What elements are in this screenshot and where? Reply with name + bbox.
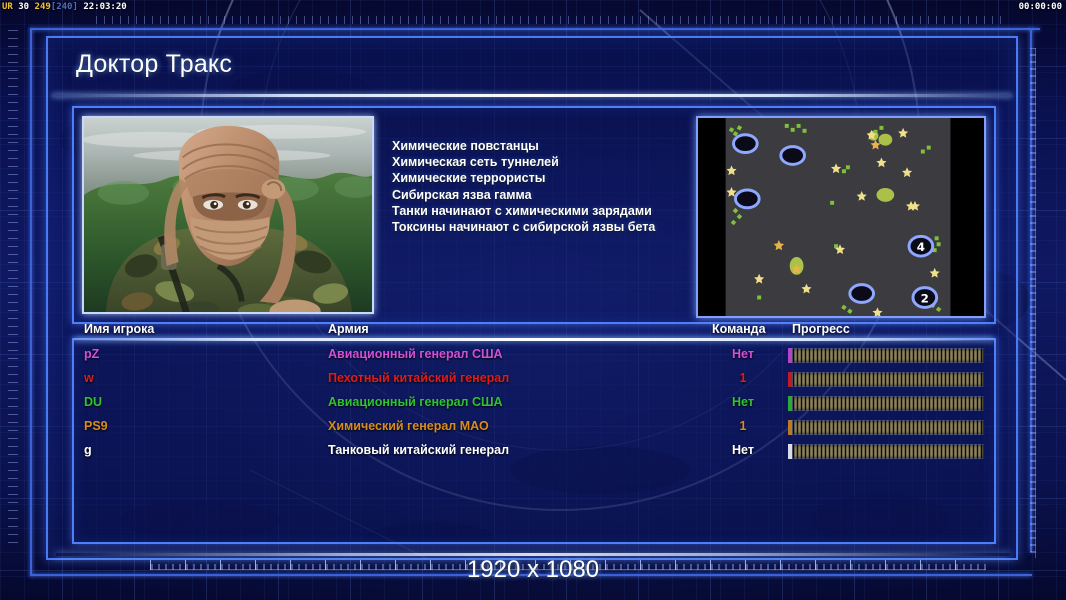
svg-text:4: 4	[917, 240, 925, 254]
player-list-header: Имя игрока Армия Команда Прогресс	[74, 318, 994, 338]
player-team: Нет	[712, 395, 774, 409]
progress-bar	[792, 396, 984, 411]
title-divider	[52, 94, 1012, 97]
hud-fps: 30	[18, 2, 29, 12]
player-rows: pZАвиационный генерал СШАНетwПехотный ки…	[74, 344, 994, 464]
hud-clock: 22:03:20	[83, 2, 126, 12]
player-name: PS9	[84, 419, 108, 433]
hud-value-b: [240]	[51, 2, 78, 12]
player-team: 1	[712, 419, 774, 433]
hud-performance-readout: UR 30 249[240] 22:03:20	[2, 2, 127, 12]
player-army: Авиационный генерал США	[328, 395, 503, 409]
player-army: Авиационный генерал США	[328, 347, 503, 361]
briefing-box: Химические повстанцы Химическая сеть тун…	[72, 106, 996, 324]
progress-bar	[792, 444, 984, 459]
page-title: Доктор Тракс	[76, 50, 232, 79]
frame-line-left	[30, 28, 32, 576]
progress-bar	[792, 348, 984, 363]
loading-panel: Доктор Тракс	[46, 36, 1018, 560]
hud-game-timer: 00:00:00	[1019, 2, 1062, 12]
column-header-army: Армия	[328, 322, 369, 336]
player-list-box: Имя игрока Армия Команда Прогресс pZАвиа…	[72, 338, 996, 544]
player-list-header-divider	[74, 338, 994, 341]
map-preview: 4 2	[698, 118, 984, 317]
hud-label: UR	[2, 2, 13, 12]
progress-bar	[792, 420, 984, 435]
general-portrait	[84, 118, 372, 313]
general-portrait-frame	[82, 116, 374, 314]
player-name: g	[84, 443, 92, 457]
table-row[interactable]: PS9Химический генерал МАО1	[74, 416, 994, 440]
table-row[interactable]: pZАвиационный генерал СШАНет	[74, 344, 994, 368]
table-row[interactable]: gТанковый китайский генералНет	[74, 440, 994, 464]
frame-line-top	[30, 28, 1040, 30]
player-army: Химический генерал МАО	[328, 419, 489, 433]
player-army: Танковый китайский генерал	[328, 443, 509, 457]
player-team: Нет	[712, 347, 774, 361]
progress-bar	[792, 372, 984, 387]
ruler-top	[96, 16, 1006, 24]
ruler-right	[1025, 48, 1036, 558]
hud-value-a: 249	[35, 2, 51, 12]
player-team: Нет	[712, 443, 774, 457]
frame-line-right	[1030, 28, 1032, 552]
player-name: pZ	[84, 347, 99, 361]
column-header-name: Имя игрока	[84, 322, 154, 336]
table-row[interactable]: wПехотный китайский генерал1	[74, 368, 994, 392]
ruler-left	[8, 30, 18, 544]
player-name: w	[84, 371, 94, 385]
svg-text:2: 2	[921, 291, 929, 305]
column-header-team: Команда	[712, 322, 766, 336]
player-team: 1	[712, 371, 774, 385]
column-header-progress: Прогресс	[792, 322, 850, 336]
resolution-label: 1920 x 1080	[0, 556, 1066, 584]
game-lobby-screen: UR 30 249[240] 22:03:20 00:00:00 Доктор …	[0, 0, 1066, 600]
map-preview-frame: 4 2	[696, 116, 986, 318]
player-name: DU	[84, 395, 102, 409]
player-army: Пехотный китайский генерал	[328, 371, 509, 385]
table-row[interactable]: DUАвиационный генерал СШАНет	[74, 392, 994, 416]
